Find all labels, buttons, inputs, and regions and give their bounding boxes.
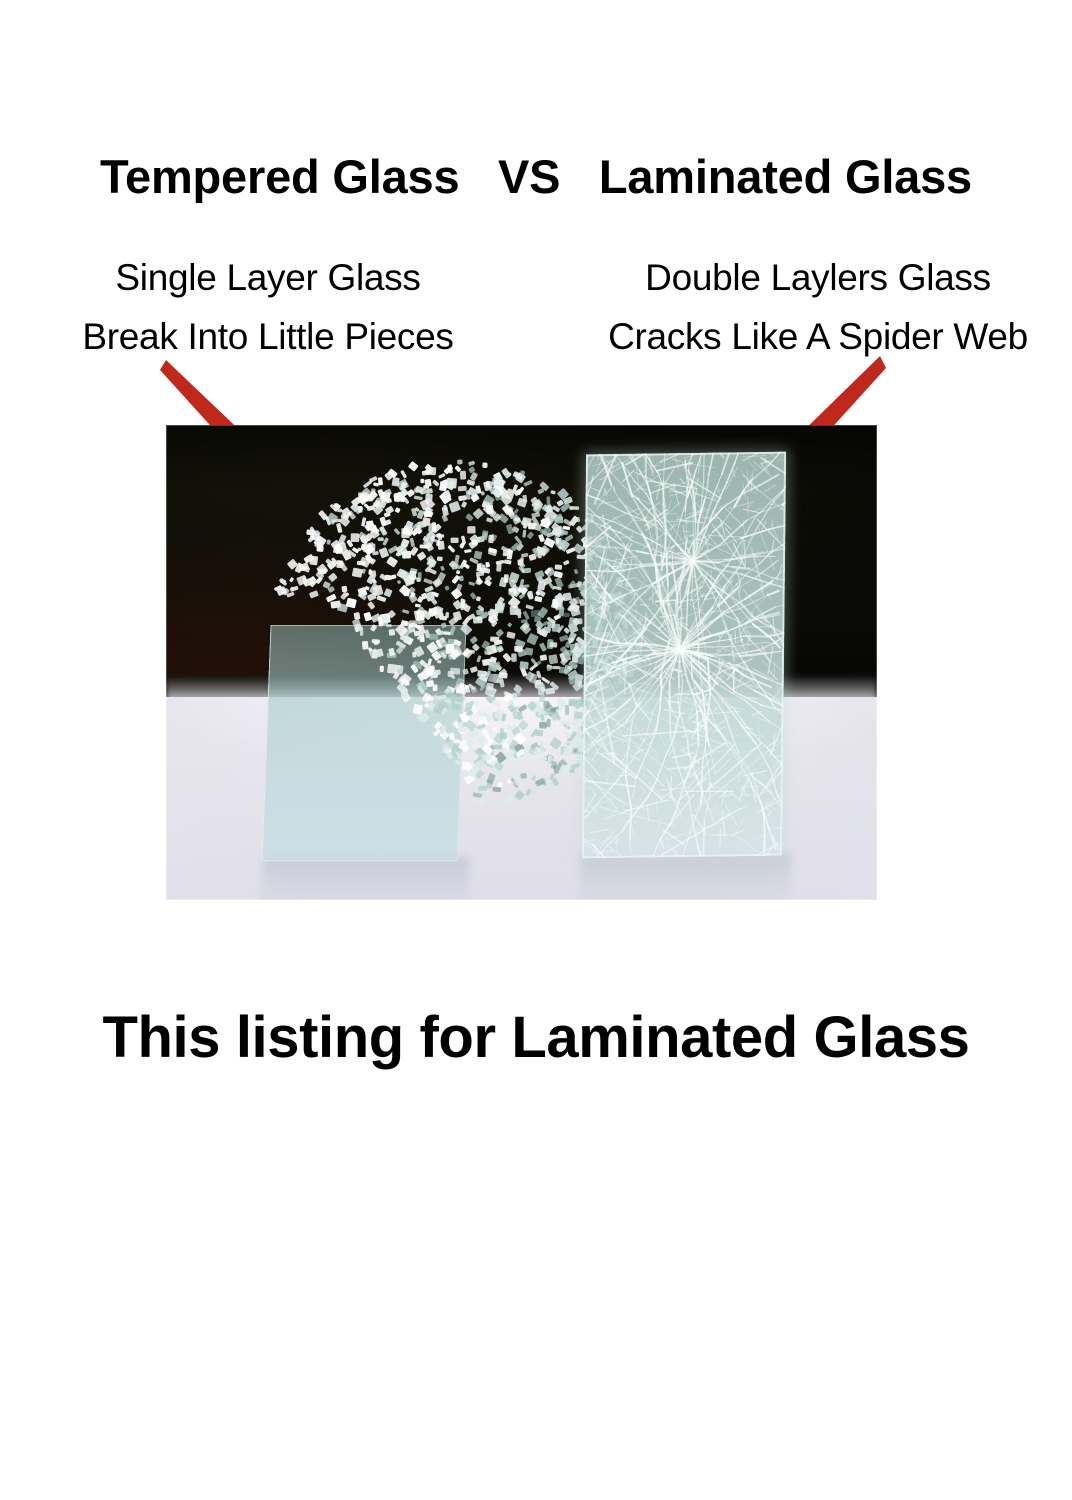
page-title: Tempered Glass VS Laminated Glass [0,152,1072,201]
tempered-description-line-2: Break Into Little Pieces [0,307,536,366]
comparison-photo: TEMPERED GLASS LAMINATED GLASS [166,425,877,900]
photo-border [166,425,877,900]
comparison-subtitles: Single Layer Glass Break Into Little Pie… [0,248,1072,366]
laminated-description-line-2: Cracks Like A Spider Web [550,307,1072,366]
tempered-description-line-1: Single Layer Glass [0,248,536,307]
tempered-description: Single Layer Glass Break Into Little Pie… [0,248,544,366]
listing-infographic: Tempered Glass VS Laminated Glass Single… [0,0,1072,1500]
laminated-description: Double Laylers Glass Cracks Like A Spide… [544,248,1072,366]
listing-note: This listing for Laminated Glass [0,1004,1072,1071]
laminated-description-line-1: Double Laylers Glass [550,248,1072,307]
